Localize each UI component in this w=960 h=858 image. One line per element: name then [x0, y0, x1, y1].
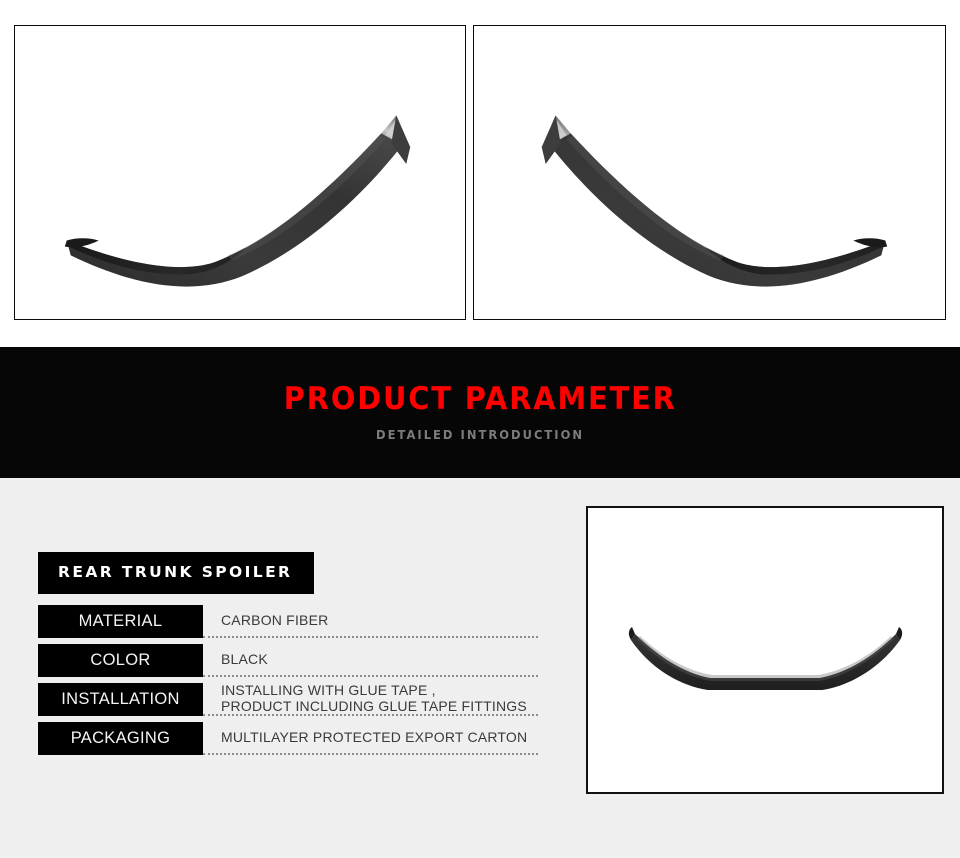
spec-label-packaging: PACKAGING — [38, 722, 203, 755]
banner-title: PRODUCT PARAMETER — [284, 384, 677, 415]
spec-title-badge: REAR TRUNK SPOILER — [38, 552, 314, 594]
product-photo-right[interactable] — [473, 25, 946, 320]
spec-value-installation-line2: PRODUCT INCLUDING GLUE TAPE FITTINGS — [221, 699, 538, 714]
spec-label-installation: INSTALLATION — [38, 683, 203, 716]
spoiler-illustration-right — [474, 26, 945, 319]
table-row: MATERIAL CARBON FIBER — [38, 605, 538, 638]
specification-section: REAR TRUNK SPOILER MATERIAL CARBON FIBER… — [0, 478, 960, 858]
table-row: PACKAGING MULTILAYER PROTECTED EXPORT CA… — [38, 722, 538, 755]
banner-subtitle: DETAILED INTRODUCTION — [376, 429, 584, 442]
spec-value-cell: CARBON FIBER — [203, 605, 538, 638]
spec-value-material: CARBON FIBER — [221, 613, 538, 628]
spoiler-illustration-left — [15, 26, 465, 319]
section-banner: PRODUCT PARAMETER DETAILED INTRODUCTION — [0, 347, 960, 478]
spec-value-color: BLACK — [221, 652, 538, 667]
spoiler-illustration-front — [588, 508, 942, 792]
spec-value-cell: BLACK — [203, 644, 538, 677]
spec-value-packaging: MULTILAYER PROTECTED EXPORT CARTON — [221, 730, 538, 745]
spec-value-installation-line1: INSTALLING WITH GLUE TAPE , — [221, 683, 538, 698]
product-photo-bottom[interactable] — [586, 506, 944, 794]
spec-value-cell: INSTALLING WITH GLUE TAPE , PRODUCT INCL… — [203, 683, 538, 716]
spec-label-color: COLOR — [38, 644, 203, 677]
table-row: INSTALLATION INSTALLING WITH GLUE TAPE ,… — [38, 683, 538, 716]
specification-table: REAR TRUNK SPOILER MATERIAL CARBON FIBER… — [38, 552, 538, 761]
spec-value-cell: MULTILAYER PROTECTED EXPORT CARTON — [203, 722, 538, 755]
product-photo-left[interactable] — [14, 25, 466, 320]
product-gallery — [0, 0, 960, 347]
spec-row-list: MATERIAL CARBON FIBER COLOR BLACK INSTAL… — [38, 605, 538, 755]
spec-label-material: MATERIAL — [38, 605, 203, 638]
table-row: COLOR BLACK — [38, 644, 538, 677]
